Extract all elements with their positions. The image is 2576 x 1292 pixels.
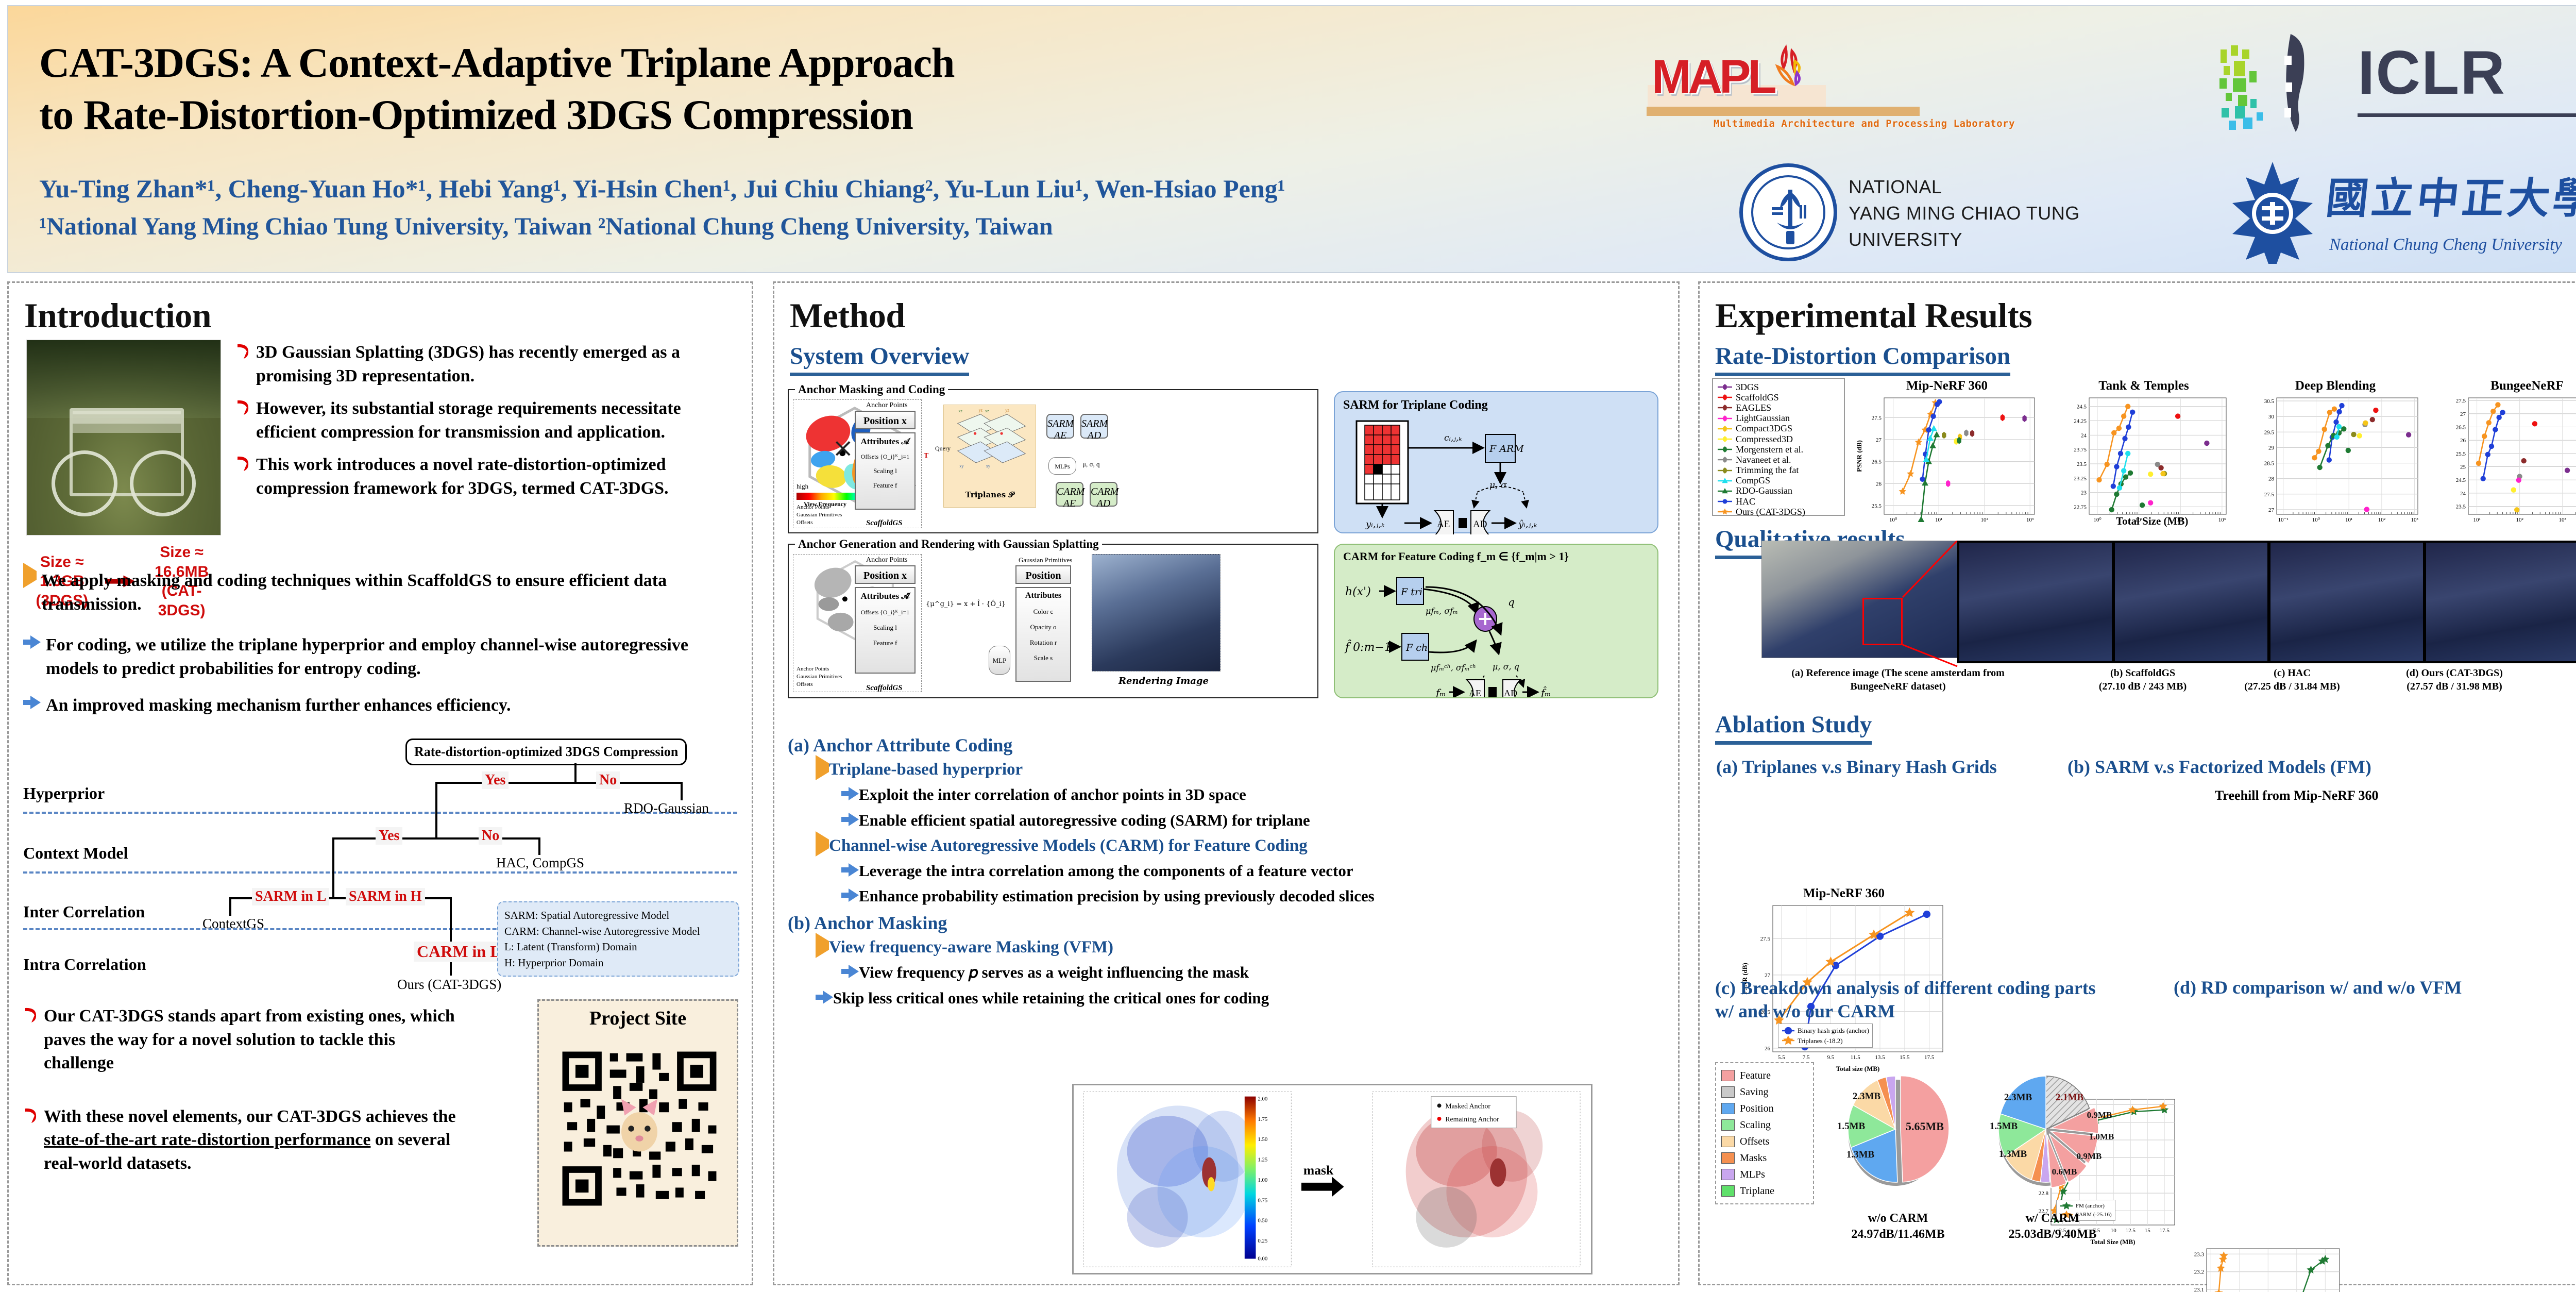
svg-text:fₘ: fₘ (1435, 686, 1446, 697)
pie-slice-label: 1.5MB (1990, 1121, 2018, 1132)
tree-node-sarm-h: SARM in H (346, 888, 425, 905)
list-item: View frequency-aware Masking (VFM) (816, 938, 1664, 957)
tree-root-node: Rate-distortion-optimized 3DGS Compressi… (405, 739, 687, 765)
qual-caption-b-title: (b) ScaffoldGS (2081, 666, 2205, 680)
gattr-rotation: Rotation r (1016, 639, 1070, 647)
chart-legend-label: Compact3DGS (1736, 423, 1792, 434)
nycu-line-2: YANG MING CHIAO TUNG (1849, 200, 2080, 226)
mlps-box: MLPs (1048, 457, 1076, 475)
intro-secondary-bullets: We apply masking and coding techniques w… (23, 569, 714, 727)
svg-text:0.00: 0.00 (1258, 1255, 1267, 1262)
tree-legend-item: L: Latent (Transform) Domain (504, 939, 732, 954)
chart-legend-label: LightGaussian (1736, 413, 1790, 424)
nycu-line-3: UNIVERSITY (1849, 226, 2080, 253)
chart-legend-item: Compressed3D (1717, 434, 1840, 444)
project-site-card[interactable]: Project Site (537, 999, 738, 1247)
scaffoldgs-label: ScaffoldGS (866, 519, 903, 528)
qual-caption-d: (d) Ours (CAT-3DGS) (27.57 dB / 31.98 MB… (2380, 666, 2529, 693)
mask-arrow-label: mask (1303, 1163, 1334, 1178)
pie-legend-item: Scaling (1721, 1117, 1808, 1133)
list-item-label: This work introduces a novel rate-distor… (256, 453, 725, 500)
svg-text:0.75: 0.75 (1258, 1197, 1267, 1203)
svg-text:23.5: 23.5 (2077, 461, 2087, 467)
system-overview-figure: Anchor Masking and Coding (788, 384, 1665, 709)
tree-divider (23, 871, 737, 874)
pie-legend-label: Saving (1740, 1086, 1769, 1098)
pie-legend-swatch (1721, 1070, 1735, 1081)
svg-text:F ARM: F ARM (1489, 443, 1524, 455)
mapl-subtitle: Multimedia Architecture and Processing L… (1714, 118, 2015, 129)
list-item: Our CAT-3DGS stands apart from existing … (23, 1004, 466, 1075)
svg-text:27.5: 27.5 (2456, 398, 2466, 404)
chart-legend-item: EAGLES (1717, 402, 1840, 413)
page-title: CAT-3DGS: A Context-Adaptive Triplane Ap… (39, 37, 1533, 141)
svg-text:25.5: 25.5 (2456, 451, 2466, 457)
svg-text:27.5: 27.5 (2264, 492, 2275, 498)
rd-comparison-charts: 3DGS ScaffoldGS EAGLES LightGaussian Com… (1709, 371, 2576, 520)
pie-legend-swatch (1721, 1185, 1735, 1197)
svg-text:23.2: 23.2 (2194, 1269, 2204, 1276)
bike-wheel-right (130, 450, 196, 516)
nycu-seal-emblem (1770, 187, 1812, 247)
svg-text:27: 27 (2460, 411, 2466, 417)
mask-legend-remaining: Remaining Anchor (1445, 1115, 1499, 1123)
svg-text:yz: yz (979, 408, 983, 412)
sarm-triplane-panel: SARM for Triplane Coding (1334, 391, 1658, 533)
list-item-label: Enable efficient spatial autoregressive … (859, 811, 1310, 831)
tree-legend: SARM: Spatial Autoregressive Model CARM:… (497, 901, 739, 977)
pie-chart-wo-carm: 2.3MB1.5MB1.3MB5.65MB (1819, 1052, 1974, 1206)
svg-text:xz: xz (985, 409, 989, 413)
pie-caption-left: w/o CARM 24.97dB/11.46MB (1834, 1211, 1962, 1242)
anchor-legend: Anchor Points Gaussian Primitives Offset… (796, 504, 842, 527)
tree-row-label: Hyperprior (23, 784, 105, 803)
orange-triangle-icon (816, 941, 829, 950)
list-item-label: View frequency-aware Masking (VFM) (829, 938, 1113, 957)
tree-edge (450, 962, 452, 976)
svg-text:25.5: 25.5 (1872, 503, 1882, 509)
qual-caption-c-metric: (27.25 dB / 31.84 MB) (2230, 680, 2354, 693)
svg-text:30: 30 (2268, 414, 2275, 420)
svg-text:10¹: 10¹ (2345, 517, 2352, 523)
svg-text:0.50: 0.50 (1258, 1218, 1267, 1224)
red-hook-icon (23, 1107, 39, 1127)
anchor-legend-item: Anchor Points (796, 504, 842, 511)
chart-legend-label: EAGLES (1736, 402, 1771, 413)
gattr-title: Attributes (1016, 591, 1070, 600)
anchor-points-label-2: Anchor Points (866, 556, 908, 564)
pie-slice-label: 5.65MB (1906, 1120, 1944, 1133)
list-item-label: Our CAT-3DGS stands apart from existing … (44, 1004, 466, 1075)
pie-legend-item: Feature (1721, 1067, 1808, 1084)
anchor-generation-panel: Anchor Generation and Rendering with Gau… (788, 544, 1318, 698)
triplanes-figure: xz yz xz yz xy xy Triplanes 𝒫 (943, 405, 1036, 508)
pie-legend-swatch (1721, 1086, 1735, 1098)
svg-text:17.5: 17.5 (2160, 1228, 2170, 1234)
chart-legend-item: 3DGS (1717, 382, 1840, 392)
list-item-label: With these novel elements, our CAT-3DGS … (44, 1105, 466, 1176)
list-item: Leverage the intra correlation among the… (841, 861, 1664, 881)
orange-triangle-icon (816, 840, 829, 849)
method-column: Method System Overview Anchor Masking an… (773, 281, 1680, 1285)
intro-bullet-list: 3D Gaussian Splatting (3DGS) has recentl… (235, 341, 725, 509)
qual-caption-c-title: (c) HAC (2230, 666, 2354, 680)
orange-triangle-icon (816, 763, 829, 773)
reference-crop-box (1862, 598, 1903, 645)
pie-legend-label: Offsets (1740, 1136, 1769, 1148)
gattr-opacity: Opacity o (1016, 623, 1070, 631)
mapl-wordmark: MAPL (1652, 50, 1774, 104)
chart-sarm-triplane-size: 22.722.822.92323.123.223.300.20.40.60.8T… (2189, 1246, 2344, 1292)
iclr-head-icon (2208, 31, 2342, 134)
bike-wheel-left (52, 450, 117, 516)
svg-text:10¹: 10¹ (1935, 517, 1942, 523)
conclusion-pre: With these novel elements, our CAT-3DGS … (44, 1107, 456, 1126)
blue-arrow-icon (841, 965, 859, 981)
svg-text:10⁰: 10⁰ (2093, 517, 2102, 523)
svg-text:27: 27 (1876, 437, 1882, 443)
qual-caption-d-metric: (27.57 dB / 31.98 MB) (2380, 680, 2529, 693)
pie-slice-label: 1.5MB (1837, 1121, 1866, 1132)
chart-legend-label: Ours (CAT-3DGS) (1736, 507, 1805, 517)
chart-legend-item: Ours (CAT-3DGS) (1717, 507, 1840, 517)
svg-text:30.5: 30.5 (2264, 398, 2275, 405)
pie-legend-swatch (1721, 1152, 1735, 1164)
qual-caption-c: (c) HAC (27.25 dB / 31.84 MB) (2230, 666, 2354, 693)
tree-legend-item: CARM: Channel-wise Autoregressive Model (504, 924, 732, 939)
tree-edge (435, 782, 437, 837)
tree-legend-item: H: Hyperprior Domain (504, 955, 732, 970)
blue-arrow-icon (816, 991, 833, 1006)
attributes-hat-title: Attributes 𝒜̂ (856, 591, 914, 601)
attr-offsets: Offsets {O_i}ᴷ_i=1 (856, 453, 914, 461)
chart-title: Tank & Temples (2057, 379, 2230, 393)
experimental-heading: Experimental Results (1715, 295, 2576, 336)
svg-text:26.5: 26.5 (2456, 425, 2466, 431)
pie-legend-item: Triplane (1721, 1183, 1808, 1199)
pie-legend-label: Scaling (1740, 1119, 1771, 1131)
svg-text:24.25: 24.25 (2074, 418, 2087, 425)
list-item: For coding, we utilize the triplane hype… (23, 633, 714, 680)
svg-text:10¹: 10¹ (2473, 517, 2480, 523)
chart-legend-item: ScaffoldGS (1717, 392, 1840, 402)
chart-legend-item: Morgenstern et al. (1717, 444, 1840, 455)
carm-diagram: h(x') F tri f̂ 0:m−1 F ch μfₘ, σfₘ μfₘᶜʰ… (1335, 568, 1659, 697)
poster-root: CAT-3DGS: A Context-Adaptive Triplane Ap… (0, 0, 2576, 1292)
tree-row-label: Intra Correlation (23, 955, 146, 974)
svg-text:10³: 10³ (2411, 517, 2418, 523)
pie-legend: Feature Saving Position Scaling Offsets … (1715, 1062, 1814, 1204)
chart-legend-label: Navaneet et al. (1736, 455, 1791, 465)
list-item-label: 3D Gaussian Splatting (3DGS) has recentl… (256, 341, 725, 388)
pie-legend-item: MLPs (1721, 1166, 1808, 1183)
red-hook-icon (235, 455, 251, 475)
mapl-flower-icon (1770, 44, 1806, 100)
position-attr-box-2: Position x (855, 565, 916, 584)
chart-legend-label: RDO-Gaussian (1736, 485, 1792, 496)
anchor-masking-panel: Anchor Masking and Coding (788, 389, 1318, 533)
list-item: This work introduces a novel rate-distor… (235, 453, 725, 500)
list-item-label: Channel-wise Autoregressive Models (CARM… (829, 836, 1308, 855)
svg-text:28.5: 28.5 (2264, 461, 2275, 467)
pie-slice-label: 2.3MB (2004, 1092, 2032, 1103)
list-item-label: We apply masking and coding techniques w… (42, 569, 714, 616)
pie-slice-label: 1.3MB (1999, 1149, 2027, 1160)
treehill-chart-title: Treehill from Mip-NeRF 360 (2215, 788, 2378, 803)
list-item: Triplane-based hyperprior (816, 760, 1664, 779)
attr-feature-2: Feature f (856, 639, 914, 647)
carm-ad-box: CARMAD (1090, 482, 1117, 507)
carm-ae-box: CARMAE (1056, 482, 1083, 507)
chart-legend-item: Trimming the fat (1717, 465, 1840, 476)
sarm-ad-box: SARMAD (1080, 414, 1108, 439)
attr-scaling: Scaling l (856, 467, 914, 475)
chart-legend-label: Morgenstern et al. (1736, 444, 1803, 455)
anchor-masking-panel-title: Anchor Masking and Coding (795, 383, 948, 396)
pie-slice-label: 0.6MB (2052, 1167, 2077, 1177)
attributes-hat-box: Attributes 𝒜̂ Offsets {O_i}ᴷ_i=1 Scaling… (855, 587, 916, 674)
chart-legend-item: Compact3DGS (1717, 424, 1840, 434)
gaussian-attributes-box: Attributes Color c Opacity o Rotation r … (1015, 587, 1071, 682)
tree-edge (574, 763, 577, 783)
pie-legend-label: Masks (1740, 1152, 1767, 1164)
chart-title: Deep Blending (2249, 379, 2422, 393)
svg-text:24: 24 (2081, 432, 2087, 439)
svg-text:μfₘᶜʰ, σfₘᶜʰ: μfₘᶜʰ, σfₘᶜʰ (1431, 663, 1476, 673)
tree-leaf-rdo: RDO-Gaussian (624, 800, 709, 816)
chart-legend-item: LightGaussian (1717, 413, 1840, 424)
poster-header: CAT-3DGS: A Context-Adaptive Triplane Ap… (7, 5, 2576, 273)
tree-node-carm-l: CARM in L (414, 942, 504, 962)
pie-caption-right: w/ CARM 25.03dB/9.40MB (1988, 1211, 2117, 1242)
sarm-ae-box: SARMAE (1046, 414, 1074, 439)
tree-leaf-contextgs: ContextGS (202, 916, 264, 932)
tree-edge-label-yes: Yes (482, 771, 509, 789)
list-item-label: Leverage the intra correlation among the… (859, 861, 1353, 881)
reference-image (1761, 541, 1962, 658)
svg-text:23.3: 23.3 (2194, 1251, 2205, 1257)
ccu-logo: 國立中正大學 National Chung Cheng University (2224, 161, 2576, 272)
tree-edge-label-no: No (479, 827, 502, 845)
svg-text:f̂ 0:m−1: f̂ 0:m−1 (1344, 640, 1392, 654)
chart-legend-label: CompGS (1736, 475, 1770, 486)
chart-legend-item: RDO-Gaussian (1717, 486, 1840, 496)
pie-legend-label: Feature (1740, 1070, 1771, 1082)
svg-text:23.25: 23.25 (2074, 476, 2087, 482)
ccu-english-name: National Chung Cheng University (2329, 236, 2562, 255)
svg-text:10⁰: 10⁰ (2312, 517, 2320, 523)
chart-mipnerf360: Mip-NeRF 36025.52626.52727.510⁰10¹10²10³… (1855, 379, 2039, 530)
chart-title: Mip-NeRF 360 (1741, 886, 1947, 901)
gattr-scale: Scale s (1016, 654, 1070, 662)
svg-text:26: 26 (1876, 481, 1882, 487)
rd-legend: 3DGS ScaffoldGS EAGLES LightGaussian Com… (1712, 378, 1845, 516)
ablation-subheading: Ablation Study (1715, 711, 1872, 745)
pie-legend-item: Position (1721, 1100, 1808, 1117)
attributes-box: Attributes 𝒜 Offsets {O_i}ᴷ_i=1 Scaling … (855, 432, 916, 510)
list-item-label: Skip less critical ones while retaining … (833, 988, 1269, 1009)
orange-triangle-icon (23, 571, 37, 580)
nycu-logo: NATIONAL YANG MING CHIAO TUNG UNIVERSITY (1739, 161, 2182, 272)
svg-text:10⁰: 10⁰ (1889, 517, 1897, 523)
svg-text:24.5: 24.5 (2077, 404, 2087, 410)
pie-slice-label: 0.9MB (2087, 1110, 2112, 1120)
list-item: Channel-wise Autoregressive Models (CARM… (816, 836, 1664, 855)
ablation-c-title: (c) Breakdown analysis of different codi… (1715, 977, 2168, 1023)
red-hook-icon (235, 399, 251, 419)
pie-breakdown-figure: Feature Saving Position Scaling Offsets … (1710, 1031, 2158, 1253)
chart-legend-label: 3DGS (1736, 382, 1759, 393)
position-attr-box: Position x (855, 411, 916, 429)
svg-text:1.50: 1.50 (1258, 1136, 1267, 1143)
iclr-underline (2358, 113, 2576, 117)
svg-text:23.1: 23.1 (2194, 1287, 2204, 1292)
mapl-bar (1647, 107, 1920, 116)
qual-caption-a: (a) Reference image (The scene amsterdam… (1761, 666, 2035, 693)
method-section-b: (b) Anchor Masking (788, 912, 1664, 934)
list-item: Enhance probability estimation precision… (841, 886, 1664, 907)
mask-legend-masked: Masked Anchor (1445, 1102, 1490, 1110)
mlp-box: MLP (989, 646, 1010, 675)
system-overview-subheading: System Overview (790, 342, 969, 376)
mu-equation: {μ^g_i} = x + l̂ · {Ô_i} (926, 600, 1006, 608)
ablation-c-title-line1: (c) Breakdown analysis of different codi… (1715, 977, 2168, 1000)
crop-image-scaffoldgs (2115, 543, 2267, 661)
attr-scaling-2: Scaling l (856, 624, 914, 632)
iclr-wordmark: ICLR (2358, 37, 2506, 108)
chart-title: Mip-NeRF 360 (1855, 379, 2039, 393)
anchor-points-label: Anchor Points (866, 401, 908, 410)
chart-legend-label: ScaffoldGS (1736, 392, 1779, 403)
svg-text:23: 23 (2081, 490, 2087, 496)
svg-text:AE: AE (1469, 688, 1481, 697)
pie-legend-item: Offsets (1721, 1133, 1808, 1150)
tree-edge (435, 782, 683, 784)
intro-conclusion-bullets: Our CAT-3DGS stands apart from existing … (23, 1004, 466, 1184)
taxonomy-tree-diagram: Hyperprior Context Model Inter Correlati… (23, 736, 739, 974)
crop-image-ours (2426, 543, 2576, 661)
anchor-legend-item: Gaussian Primitives (796, 511, 842, 519)
iclr-logo: ICLR (2193, 27, 2576, 138)
list-item: Enable efficient spatial autoregressive … (841, 811, 1664, 831)
list-item: 3D Gaussian Splatting (3DGS) has recentl… (235, 341, 725, 388)
pie-legend-item: Saving (1721, 1084, 1808, 1100)
svg-text:yz: yz (1005, 408, 1009, 412)
list-item: With these novel elements, our CAT-3DGS … (23, 1105, 466, 1176)
qualitative-figure: (a) Reference image (The scene amsterdam… (1761, 541, 2576, 669)
query-label: Query (935, 445, 951, 452)
list-item: View frequency 𝑝 serves as a weight infl… (841, 963, 1664, 983)
tree-edge-label-no: No (596, 771, 620, 789)
sarm-panel-title: SARM for Triplane Coding (1343, 398, 1488, 412)
ablation-d-title: (d) RD comparison w/ and w/o VFM (2174, 977, 2462, 998)
ccu-emblem-icon (2224, 161, 2321, 264)
rendering-image-caption: Rendering Image (1118, 676, 1209, 686)
attr-feature: Feature f (856, 481, 914, 490)
list-item-label: Exploit the inter correlation of anchor … (859, 785, 1246, 805)
pie-legend-item: Masks (1721, 1150, 1808, 1166)
svg-text:10⁻¹: 10⁻¹ (2278, 517, 2289, 523)
method-section-a: (a) Anchor Attribute Coding (788, 734, 1664, 756)
chart-legend-item: CompGS (1717, 476, 1840, 486)
position-mu-box: Position μ^g_i (1015, 565, 1071, 584)
anchor-generation-panel-title: Anchor Generation and Rendering with Gau… (795, 538, 1102, 551)
mask-visualization-figure: 2.001.751.50 1.251.000.75 0.500.250.00 m… (1072, 1084, 1592, 1274)
svg-text:10²: 10² (2516, 517, 2523, 523)
introduction-heading: Introduction (24, 295, 736, 336)
pie-slice-label: 2.3MB (1853, 1091, 1881, 1102)
zoomed-comparison-strip (1957, 541, 2576, 663)
red-hook-icon (23, 1006, 39, 1027)
blue-arrow-icon (841, 787, 859, 803)
svg-text:27: 27 (2268, 507, 2275, 513)
svg-text:μfₘ, σfₘ: μfₘ, σfₘ (1426, 606, 1458, 616)
pie-legend-label: Position (1740, 1103, 1774, 1115)
title-line-1: CAT-3DGS: A Context-Adaptive Triplane Ap… (39, 37, 1533, 89)
rendering-preview-image (1092, 554, 1221, 672)
svg-text:27.5: 27.5 (1872, 415, 1882, 421)
tree-edge (681, 782, 683, 800)
ccu-chinese-name: 國立中正大學 (2324, 164, 2576, 225)
list-item-label: For coding, we utilize the triplane hype… (46, 633, 714, 680)
pie-legend-swatch (1721, 1103, 1735, 1114)
chart-legend-label: Trimming the fat (1736, 465, 1799, 476)
nycu-seal-icon (1739, 163, 1837, 261)
svg-text:h(x'): h(x') (1345, 585, 1371, 598)
mask-point-cloud: 2.001.751.50 1.251.000.75 0.500.250.00 m… (1074, 1085, 1591, 1273)
svg-text:10³: 10³ (2026, 517, 2034, 523)
svg-text:F tri: F tri (1400, 586, 1422, 598)
tree-edge (229, 897, 231, 916)
author-list: Yu-Ting Zhan*¹, Cheng-Yuan Ho*¹, Hebi Ya… (39, 172, 1739, 205)
nycu-line-1: NATIONAL (1849, 174, 2080, 200)
chart-legend-label: Compressed3D (1736, 434, 1793, 445)
svg-text:28: 28 (2268, 476, 2275, 482)
pie-legend-label: MLPs (1740, 1169, 1765, 1181)
attr-offsets-2: Offsets {O_i}ᴷ_i=1 (856, 609, 914, 616)
pie-legend-swatch (1721, 1119, 1735, 1131)
ablation-a-title: (a) Triplanes v.s Binary Hash Grids (1716, 756, 1997, 778)
svg-text:10²: 10² (2378, 517, 2386, 523)
svg-text:F ch: F ch (1405, 642, 1428, 653)
pie-caption-right-title: w/ CARM (1988, 1211, 2117, 1227)
list-item-label: However, its substantial storage require… (256, 397, 725, 444)
mu-sigma-q-label: μ, σ, q (1082, 460, 1099, 468)
svg-text:10³: 10³ (2559, 517, 2567, 523)
tree-row-label: Inter Correlation (23, 902, 145, 921)
svg-text:10²: 10² (1981, 517, 1989, 523)
anchor-legend-2: Anchor Points Gaussian Primitives Offset… (796, 665, 842, 689)
anchor-legend-item: Offsets (796, 681, 842, 689)
svg-text:μ, σ, q: μ, σ, q (1493, 662, 1519, 672)
introduction-column: Introduction Size ≈ 1.3GB (3DGS) Size ≈ (7, 281, 753, 1285)
triplanes-caption: Triplanes 𝒫 (944, 490, 1036, 499)
tree-row-label: Context Model (23, 844, 128, 863)
svg-text:xy: xy (986, 464, 990, 468)
tree-edge (332, 837, 540, 840)
svg-text:26: 26 (2460, 438, 2466, 444)
svg-text:24.5: 24.5 (2456, 477, 2466, 483)
bike-render-image (26, 340, 221, 535)
pie-slice-label: 0.9MB (2077, 1151, 2102, 1161)
anchor-legend-item: Offsets (796, 519, 842, 527)
crop-image-reference (1959, 543, 2112, 661)
tree-node-sarm-l: SARM in L (252, 888, 329, 905)
blue-arrow-icon (841, 863, 859, 879)
affiliation-list: ¹National Yang Ming Chiao Tung Universit… (39, 212, 1739, 241)
qr-code-icon[interactable] (557, 1041, 721, 1216)
svg-text:q: q (1508, 596, 1515, 608)
